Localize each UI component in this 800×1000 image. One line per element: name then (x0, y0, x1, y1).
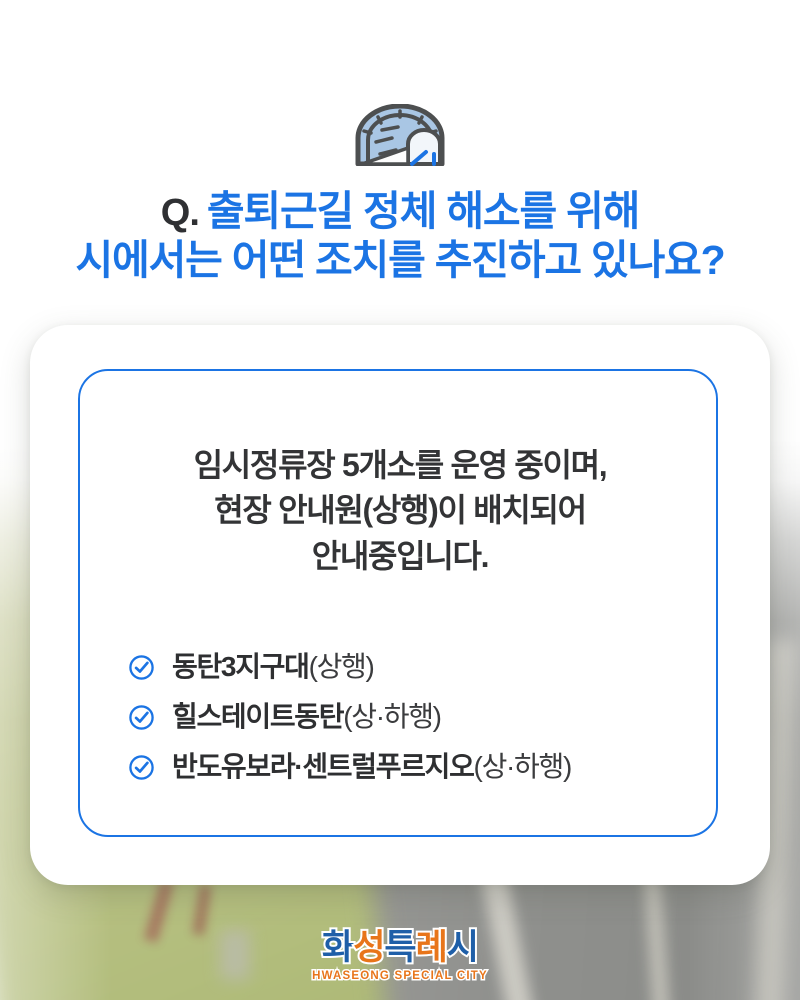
check-circle-icon (128, 654, 155, 681)
title-line-2: 시에서는 어떤 조치를 추진하고 있나요? (0, 236, 800, 284)
logo-char-5: 시 (447, 930, 478, 965)
list-item-label: 동탄3지구대(상행) (172, 653, 374, 681)
answer-lead-line-3: 안내중입니다. (80, 534, 720, 579)
answer-card: 임시정류장 5개소를 운영 중이며, 현장 안내원(상행)이 배치되어 안내중입… (30, 325, 770, 885)
logo-char-3: 특 (384, 930, 415, 965)
list-item-name: 힐스테이트동탄 (172, 701, 343, 732)
answer-card-border: 임시정류장 5개소를 운영 중이며, 현장 안내원(상행)이 배치되어 안내중입… (78, 369, 718, 837)
list-item-name: 반도유보라·센트럴푸르지오 (172, 751, 474, 782)
list-item-detail: (상·하행) (474, 751, 571, 782)
title-text-1: 출퇴근길 정체 해소를 위해 (207, 188, 639, 234)
stop-list: 동탄3지구대(상행) 힐스테이트동탄(상·하행) 반도유보라·센트럴푸르지오(상… (128, 653, 708, 803)
answer-lead-line-2: 현장 안내원(상행)이 배치되어 (80, 488, 720, 533)
poster-header: Q.출퇴근길 정체 해소를 위해 시에서는 어떤 조치를 추진하고 있나요? (0, 0, 800, 284)
list-item: 힐스테이트동탄(상·하행) (128, 703, 708, 731)
city-logo: 화성특례시 HWASEONG SPECIAL CITY (0, 930, 800, 982)
list-item: 반도유보라·센트럴푸르지오(상·하행) (128, 753, 708, 781)
list-item-detail: (상행) (309, 651, 374, 682)
logo-char-2: 성 (353, 930, 384, 965)
logo-char-1: 화 (322, 930, 353, 965)
title-block: Q.출퇴근길 정체 해소를 위해 시에서는 어떤 조치를 추진하고 있나요? (0, 187, 800, 284)
answer-lead-text: 임시정류장 5개소를 운영 중이며, 현장 안내원(상행)이 배치되어 안내중입… (80, 443, 720, 579)
logo-char-4: 례 (416, 930, 447, 965)
list-item-label: 반도유보라·센트럴푸르지오(상·하행) (172, 753, 571, 781)
answer-lead-line-1: 임시정류장 5개소를 운영 중이며, (80, 443, 720, 488)
check-circle-icon (128, 754, 155, 781)
city-logo-english: HWASEONG SPECIAL CITY (0, 970, 800, 982)
list-item-label: 힐스테이트동탄(상·하행) (172, 703, 441, 731)
city-logo-korean: 화성특례시 (322, 930, 478, 965)
tunnel-icon (350, 104, 450, 166)
list-item-name: 동탄3지구대 (172, 651, 309, 682)
question-prefix: Q. (161, 192, 199, 234)
list-item: 동탄3지구대(상행) (128, 653, 708, 681)
check-circle-icon (128, 704, 155, 731)
poster-card: Q.출퇴근길 정체 해소를 위해 시에서는 어떤 조치를 추진하고 있나요? 임… (0, 0, 800, 1000)
list-item-detail: (상·하행) (343, 701, 440, 732)
title-line-1: Q.출퇴근길 정체 해소를 위해 (0, 187, 800, 236)
